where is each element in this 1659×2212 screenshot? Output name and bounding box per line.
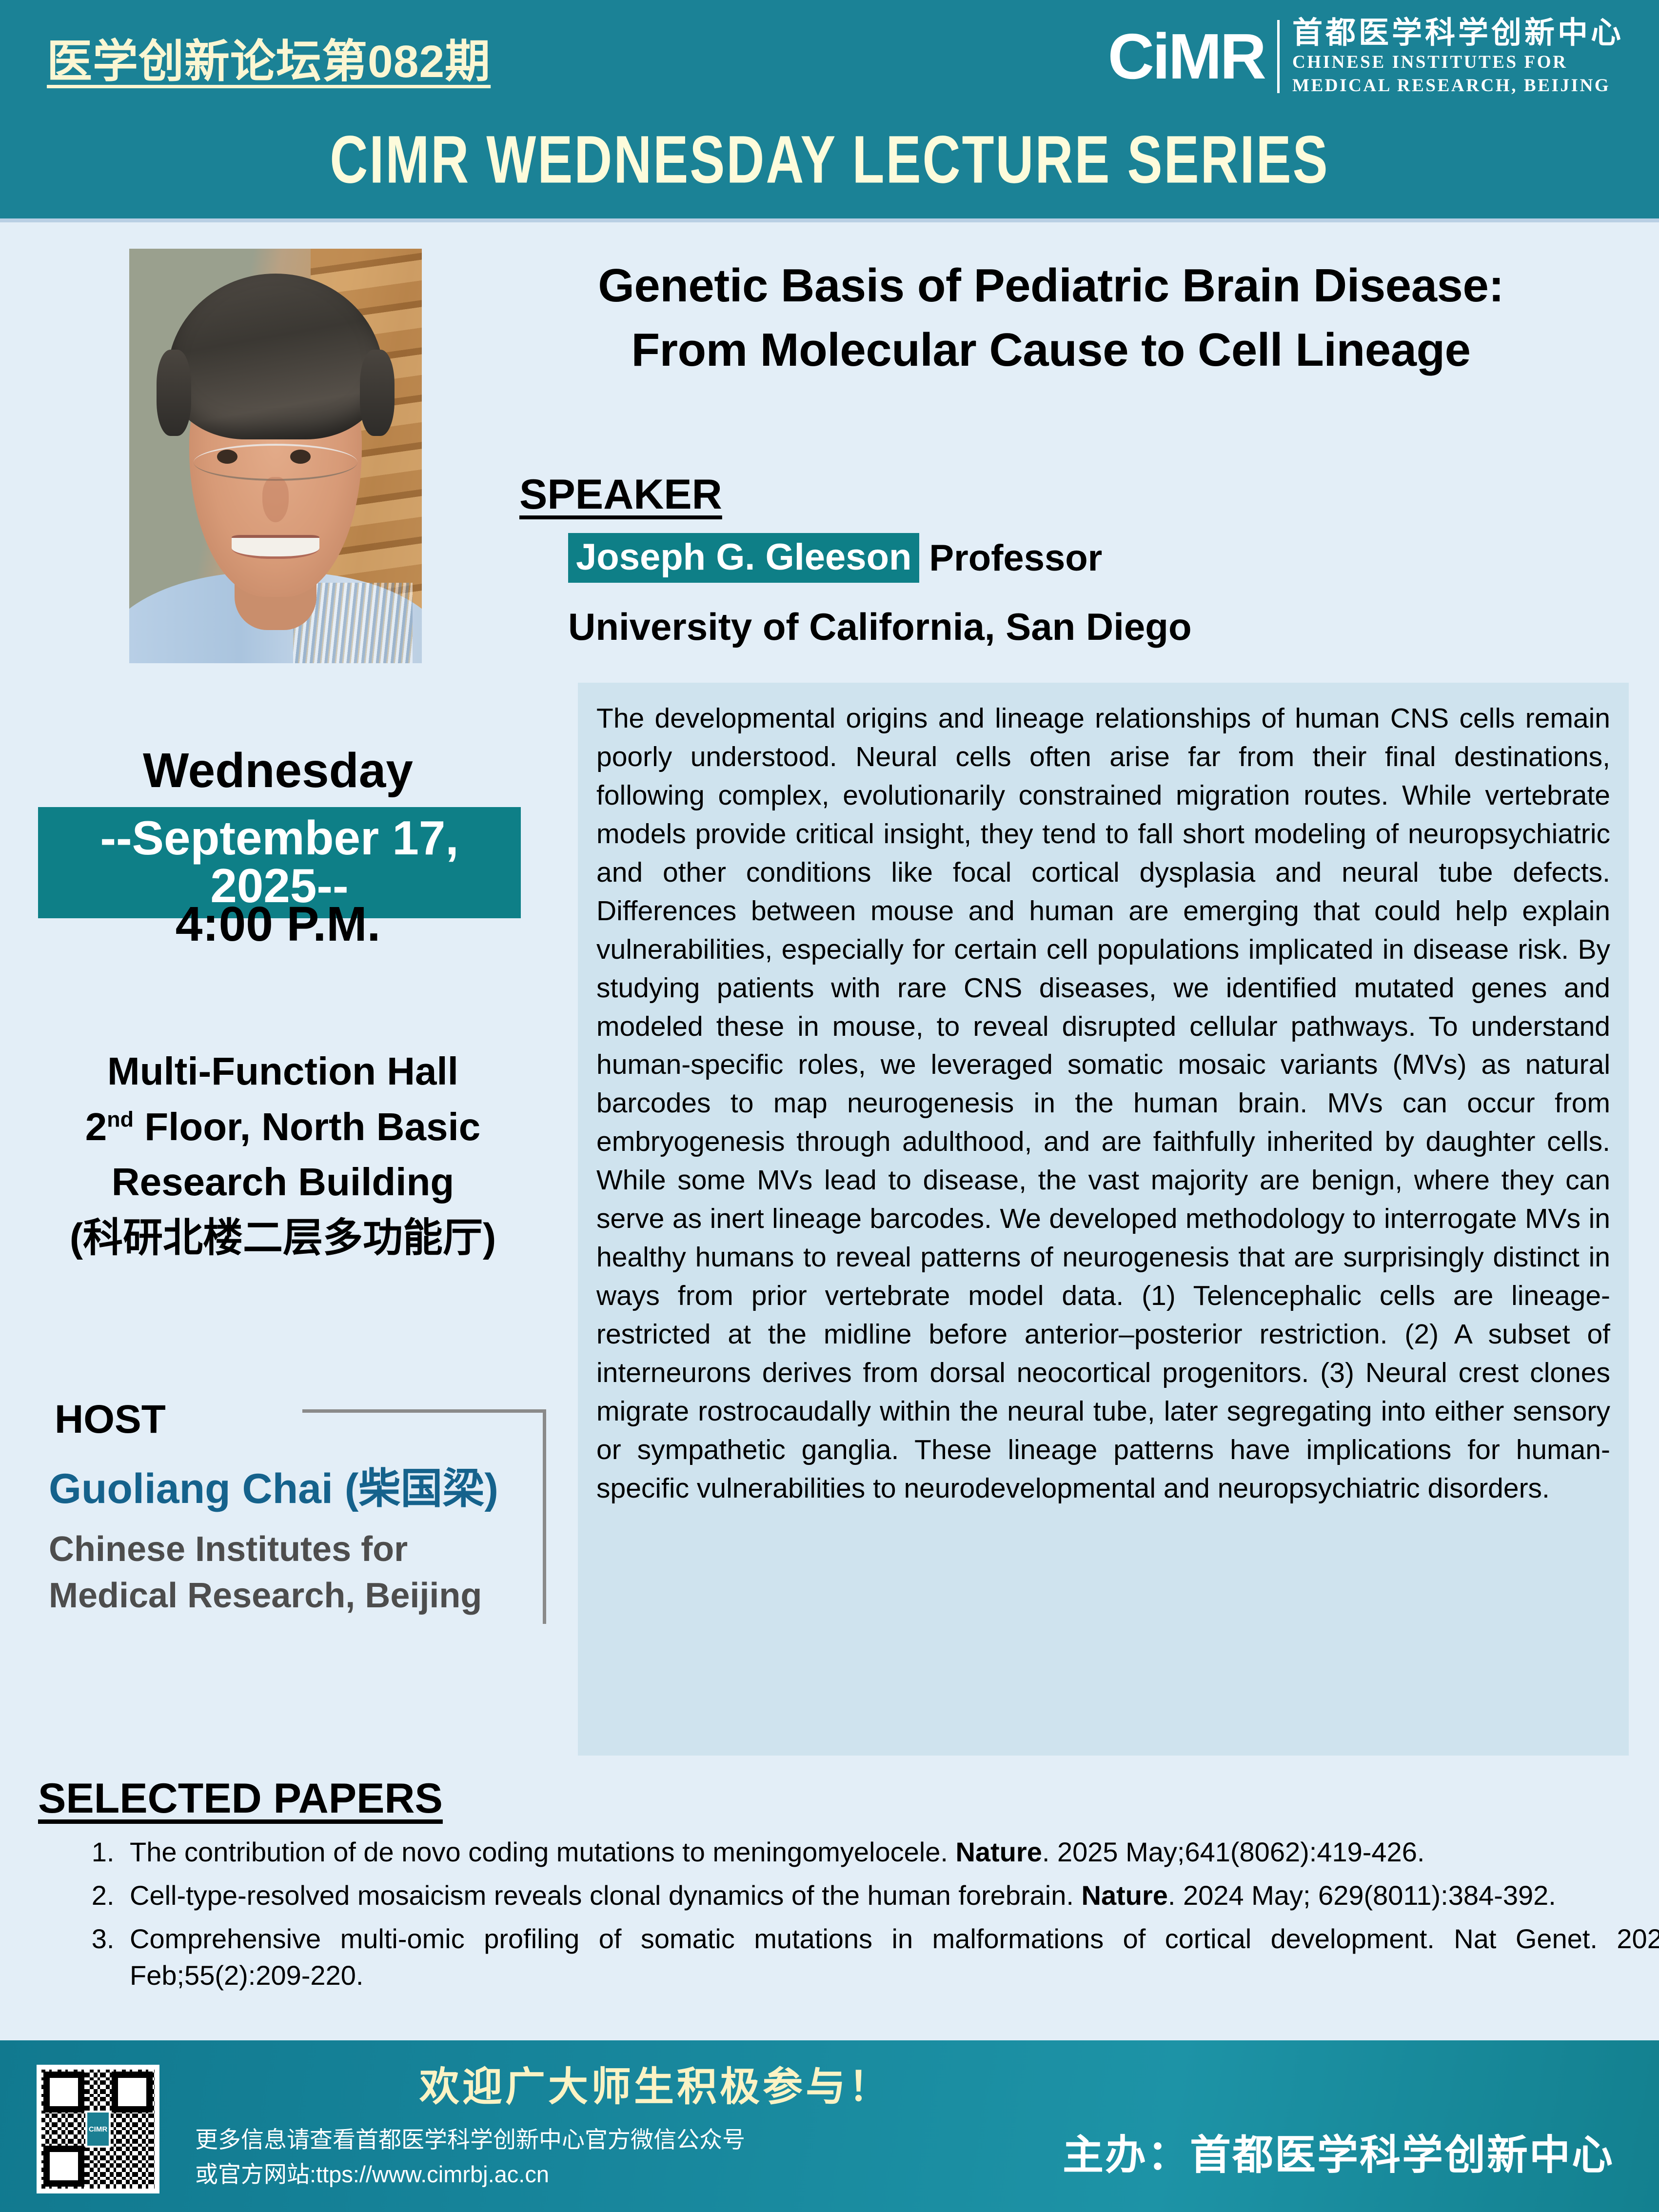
qr-code[interactable]: CIMR <box>37 2065 159 2193</box>
venue-line1: Multi-Function Hall <box>20 1044 546 1099</box>
venue-line2: 2nd Floor, North Basic <box>20 1099 546 1155</box>
footer-welcome-text: 欢迎广大师生积极参与！ <box>419 2054 891 2112</box>
talk-title-line2: From Molecular Cause to Cell Lineage <box>493 318 1609 382</box>
venue-floor-ordinal: nd <box>107 1107 134 1131</box>
host-section-label: HOST <box>55 1400 166 1440</box>
paper-item: Cell-type-resolved mosaicism reveals clo… <box>122 1877 1659 1914</box>
speaker-name-badge: Joseph G. Gleeson <box>568 533 919 583</box>
speaker-photo-frame <box>129 249 422 663</box>
host-affiliation: Chinese Institutes for Medical Research,… <box>49 1526 551 1619</box>
footer-info-line1: 更多信息请查看首都医学科学创新中心官方微信公众号 <box>195 2122 745 2157</box>
selected-papers-label: SELECTED PAPERS <box>38 1777 443 1819</box>
paper-citation: . 2025 May;641(8062):419-426. <box>1042 1837 1425 1867</box>
selected-papers-list: The contribution of de novo coding mutat… <box>78 1834 1659 2000</box>
abstract-text: The developmental origins and lineage re… <box>596 699 1610 1508</box>
series-title: CIMR WEDNESDAY LECTURE SERIES <box>330 126 1329 193</box>
talk-title-line1: Genetic Basis of Pediatric Brain Disease… <box>493 254 1609 318</box>
event-time: 4:00 P.M. <box>0 900 556 948</box>
event-day: Wednesday <box>0 746 556 795</box>
cimr-logo: CiMR 首都医学科学创新中心 CHINESE INSTITUTES FOR M… <box>1108 18 1624 96</box>
venue-line2-rest: Floor, North Basic <box>134 1105 480 1148</box>
host-affiliation-line1: Chinese Institutes for <box>49 1526 551 1573</box>
qr-finder-bottom-left <box>43 2146 84 2187</box>
speaker-affiliation: University of California, San Diego <box>568 605 1192 649</box>
issue-badge: 医学创新论坛第082期 <box>47 38 491 86</box>
series-band: CIMR WEDNESDAY LECTURE SERIES <box>0 126 1659 218</box>
paper-title: Cell-type-resolved mosaicism reveals clo… <box>130 1880 1082 1911</box>
poster-header: 医学创新论坛第082期 CiMR 首都医学科学创新中心 CHINESE INST… <box>0 0 1659 220</box>
speaker-section-label: SPEAKER <box>519 471 722 519</box>
cimr-name-en-line1: CHINESE INSTITUTES FOR <box>1292 51 1624 74</box>
cimr-logo-names: 首都医学科学创新中心 CHINESE INSTITUTES FOR MEDICA… <box>1292 16 1624 97</box>
abstract-box: The developmental origins and lineage re… <box>578 683 1629 1756</box>
speaker-title: Professor <box>929 537 1102 579</box>
footer-organizer: 主办：首都医学科学创新中心 <box>1063 2122 1614 2181</box>
paper-item: The contribution of de novo coding mutat… <box>122 1834 1659 1870</box>
qr-finder-top-right <box>112 2072 153 2113</box>
talk-title: Genetic Basis of Pediatric Brain Disease… <box>493 254 1609 383</box>
qr-code-pattern: CIMR <box>41 2070 155 2189</box>
lecture-poster: 医学创新论坛第082期 CiMR 首都医学科学创新中心 CHINESE INST… <box>0 0 1659 2212</box>
speaker-photo <box>129 249 422 663</box>
host-name: Guoliang Chai (柴国梁) <box>49 1468 498 1510</box>
eyeglasses-icon <box>194 444 357 481</box>
speaker-row: Joseph G. Gleeson Professor <box>568 533 1102 583</box>
paper-title: Comprehensive multi-omic profiling of so… <box>130 1923 1659 1991</box>
photo-nose <box>262 477 289 523</box>
paper-journal: Nature <box>1082 1880 1168 1911</box>
footer-info-line2: 或官方网站:ttps://www.cimrbj.ac.cn <box>195 2157 745 2192</box>
cimr-name-cn: 首都医学科学创新中心 <box>1292 16 1624 50</box>
paper-title: The contribution of de novo coding mutat… <box>130 1837 955 1867</box>
logo-divider <box>1277 20 1280 93</box>
photo-mouth <box>232 535 319 559</box>
event-venue: Multi-Function Hall 2nd Floor, North Bas… <box>20 1044 546 1266</box>
paper-item: Comprehensive multi-omic profiling of so… <box>122 1920 1659 1994</box>
qr-finder-top-left <box>43 2072 84 2113</box>
poster-footer: 欢迎广大师生积极参与！ CIMR 更多信息请查看首都医学科学创新中心官方微信公众… <box>0 2040 1659 2212</box>
cimr-logo-mark: CiMR <box>1108 24 1264 89</box>
header-underline <box>0 218 1659 222</box>
venue-line3: Research Building <box>20 1154 546 1210</box>
qr-center-logo: CIMR <box>85 2111 111 2148</box>
cimr-name-en-line2: MEDICAL RESEARCH, BEIJING <box>1292 74 1624 98</box>
paper-citation: . 2024 May; 629(8011):384-392. <box>1168 1880 1556 1911</box>
paper-journal: Nature <box>955 1837 1042 1867</box>
venue-floor-number: 2 <box>85 1105 107 1148</box>
footer-info: 更多信息请查看首都医学科学创新中心官方微信公众号 或官方网站:ttps://ww… <box>195 2122 745 2192</box>
host-affiliation-line2: Medical Research, Beijing <box>49 1573 551 1619</box>
venue-line4-chinese: (科研北楼二层多功能厅) <box>20 1210 546 1266</box>
